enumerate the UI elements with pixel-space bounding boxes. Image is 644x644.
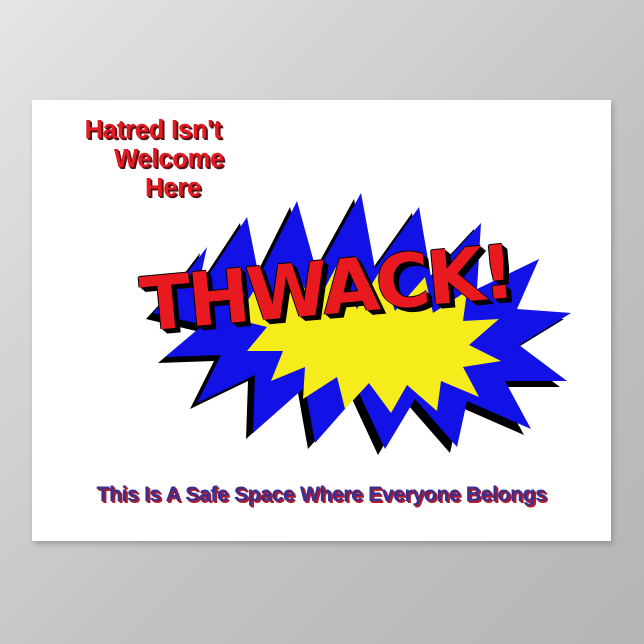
footer-tagline: This Is A Safe Space Where Everyone Belo… — [32, 483, 611, 507]
poster-preview-canvas: Hatred Isn't Welcome Here THWACK! This I… — [0, 0, 644, 644]
headline-line-2: Welcome — [36, 145, 302, 174]
poster-artwork: Hatred Isn't Welcome Here THWACK! This I… — [32, 100, 611, 541]
comic-starburst-icon — [119, 185, 589, 455]
headline-line-1: Hatred Isn't — [4, 116, 302, 145]
